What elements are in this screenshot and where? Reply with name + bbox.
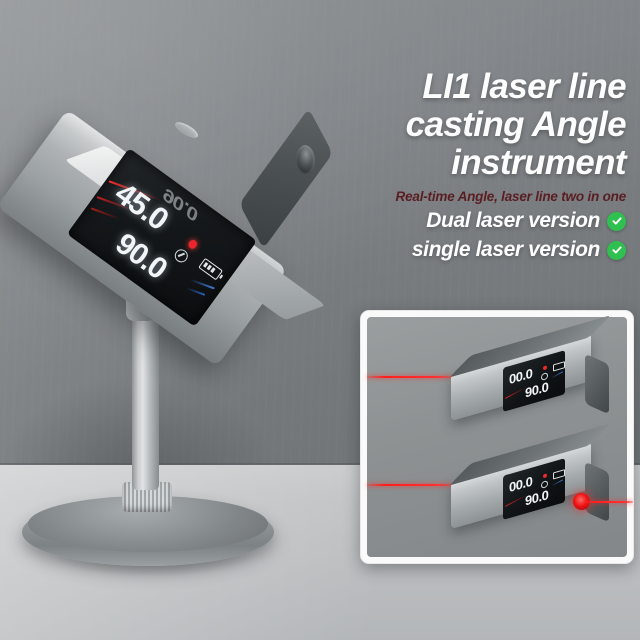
- laser-beam-right: [585, 501, 633, 503]
- version-single-row: single laser version: [326, 238, 626, 262]
- mini-secondary-value: 90.0: [525, 379, 548, 401]
- main-device: 90.0 45.0 90.0: [22, 88, 352, 358]
- laser-beam-left: [367, 484, 453, 486]
- mini-secondary-value: 90.0: [525, 487, 548, 509]
- check-icon: [607, 241, 626, 260]
- headline-block: LI1 laser line casting Angle instrument …: [326, 68, 626, 262]
- product-marketing-image: 90.0 45.0 90.0 LI1 laser line casting An…: [0, 0, 640, 640]
- degree-icon: [172, 247, 190, 265]
- red-dot-icon: [187, 238, 199, 250]
- version-dual-row: Dual laser version: [326, 209, 626, 233]
- blue-accent-line: [186, 287, 205, 296]
- product-tagline: Real-time Angle, laser line two in one: [326, 189, 626, 204]
- title-line-1: LI1 laser line: [422, 67, 626, 106]
- battery-icon: [198, 258, 223, 281]
- power-button[interactable]: [171, 120, 202, 139]
- version-dual-label: Dual laser version: [426, 209, 600, 233]
- inset-background: 00.0 90.0 00.0: [367, 317, 627, 557]
- check-icon: [607, 212, 626, 231]
- red-dot-icon: [543, 473, 547, 478]
- device-end-cap: [239, 108, 332, 249]
- red-accent-line: [505, 494, 527, 506]
- dual-laser-device: 00.0 90.0: [445, 339, 620, 409]
- red-dot-icon: [543, 365, 547, 370]
- title-line-2: casting Angle: [406, 105, 626, 144]
- laser-version-comparison-panel: 00.0 90.0 00.0: [360, 310, 634, 564]
- title-line-3: instrument: [451, 143, 626, 182]
- blue-accent-line: [190, 279, 215, 290]
- battery-icon: [553, 361, 565, 371]
- blue-accent-line: [551, 479, 563, 486]
- battery-icon: [553, 469, 565, 479]
- version-single-label: single laser version: [412, 238, 600, 262]
- red-accent-line: [505, 386, 527, 398]
- single-laser-device: 00.0 90.0: [445, 447, 620, 517]
- blue-accent-line: [551, 371, 563, 378]
- mini-device-end-cap: [585, 462, 609, 523]
- laser-beam-left: [367, 376, 453, 378]
- product-title: LI1 laser line casting Angle instrument: [326, 68, 626, 182]
- mini-device-end-cap: [585, 354, 609, 415]
